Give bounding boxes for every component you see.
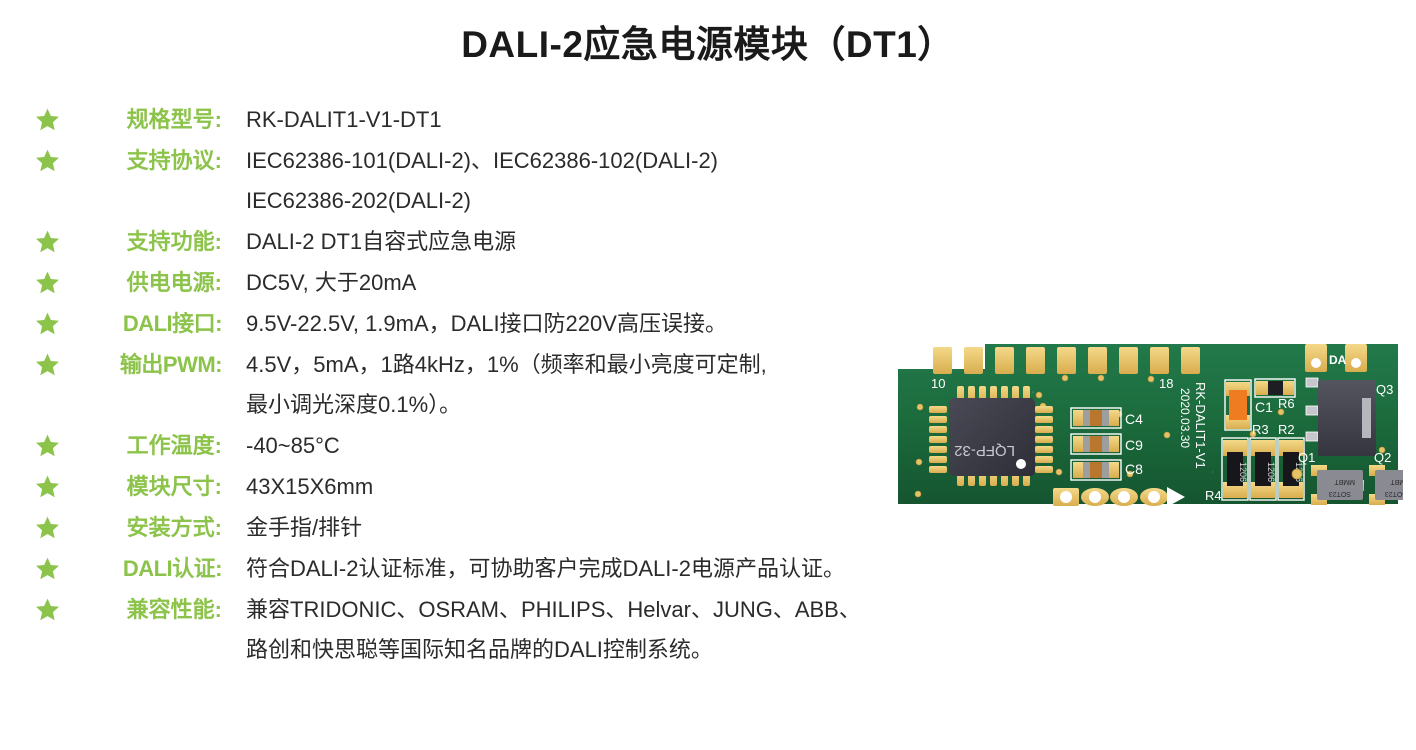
spec-value-line: RK-DALIT1-V1-DT1 (246, 100, 988, 140)
spec-label: DALI接口: (66, 304, 224, 344)
specification-list: 规格型号: RK-DALIT1-V1-DT1 支持协议: IEC62386-10… (28, 100, 988, 671)
pcb-designator-r3: R3 (1252, 422, 1269, 437)
spec-row-dali-certification: DALI认证: 符合DALI-2认证标准，可协助客户完成DALI-2电源产品认证… (28, 549, 988, 589)
pcb-designator-c9: C9 (1125, 437, 1143, 453)
pcb-designator-q2: Q2 (1374, 450, 1391, 465)
spec-value-line: 兼容TRIDONIC、OSRAM、PHILIPS、Helvar、JUNG、ABB… (246, 590, 988, 630)
spec-row-pwm-output: 输出PWM: 4.5V，5mA，1路4kHz，1%（频率和最小亮度可定制, 最小… (28, 345, 988, 425)
pcb-illustration: DA 10 18 RK-DALIT1-V1 2020.03.30 (893, 322, 1403, 522)
pcb-capacitors-c4-c9-c8: C4 C9 C8 (1071, 408, 1143, 480)
pcb-designator-c1: C1 (1255, 399, 1273, 415)
spec-value: 9.5V-22.5V, 1.9mA，DALI接口防220V高压误接。 (224, 304, 988, 344)
spec-label: 输出PWM: (66, 345, 224, 385)
bullet-cell (28, 426, 66, 458)
star-icon (35, 270, 60, 295)
spec-label: 供电电源: (66, 263, 224, 303)
spec-value-line: IEC62386-202(DALI-2) (246, 181, 988, 221)
spec-value: 43X15X6mm (224, 467, 988, 507)
spec-row-model: 规格型号: RK-DALIT1-V1-DT1 (28, 100, 988, 140)
pcb-designator-r2: R2 (1278, 422, 1295, 437)
spec-row-dali-interface: DALI接口: 9.5V-22.5V, 1.9mA，DALI接口防220V高压误… (28, 304, 988, 344)
spec-label: 兼容性能: (66, 590, 224, 630)
spec-value-line: 路创和快思聪等国际知名品牌的DALI控制系统。 (246, 630, 988, 670)
pcb-date-text: 2020.03.30 (1178, 388, 1192, 448)
bullet-cell (28, 263, 66, 295)
spec-label: 模块尺寸: (66, 467, 224, 507)
pcb-resistor-code: 1206 (1266, 462, 1276, 482)
pcb-pin-number-18: 18 (1159, 376, 1173, 391)
pcb-revision-text: RK-DALIT1-V1 (1193, 382, 1208, 469)
spec-label: DALI认证: (66, 549, 224, 589)
pcb-designator-q3: Q3 (1376, 382, 1393, 397)
bullet-cell (28, 345, 66, 377)
spec-value: DC5V, 大于20mA (224, 263, 988, 303)
svg-text:MMBT: MMBT (1334, 478, 1355, 485)
star-icon (35, 107, 60, 132)
star-icon (35, 229, 60, 254)
spec-value-line: -40~85°C (246, 426, 988, 466)
spec-value-line: DC5V, 大于20mA (246, 263, 988, 303)
svg-text:MMBT: MMBT (1390, 478, 1403, 485)
pcb-designator-q1: Q1 (1298, 450, 1315, 465)
star-icon (35, 515, 60, 540)
spec-value: 符合DALI-2认证标准，可协助客户完成DALI-2电源产品认证。 (224, 549, 988, 589)
pcb-label-da: DA (1329, 353, 1347, 367)
spec-row-function: 支持功能: DALI-2 DT1自容式应急电源 (28, 222, 988, 262)
bullet-cell (28, 590, 66, 622)
star-icon (35, 433, 60, 458)
spec-value-line: IEC62386-101(DALI-2)、IEC62386-102(DALI-2… (246, 141, 988, 181)
spec-value: IEC62386-101(DALI-2)、IEC62386-102(DALI-2… (224, 141, 988, 221)
pcb-designator-r4: R4 (1205, 488, 1222, 503)
spec-value: 4.5V，5mA，1路4kHz，1%（频率和最小亮度可定制, 最小调光深度0.1… (224, 345, 988, 425)
pcb-transistor-code: SOT23 (1329, 490, 1351, 497)
spec-row-dimensions: 模块尺寸: 43X15X6mm (28, 467, 988, 507)
bullet-cell (28, 304, 66, 336)
star-icon (35, 556, 60, 581)
spec-value: 金手指/排针 (224, 508, 988, 548)
star-icon (35, 474, 60, 499)
spec-row-protocol: 支持协议: IEC62386-101(DALI-2)、IEC62386-102(… (28, 141, 988, 221)
spec-value-line: 43X15X6mm (246, 467, 988, 507)
pcb-transistor-code: SOT23 (1385, 490, 1403, 497)
bullet-cell (28, 141, 66, 173)
bullet-cell (28, 222, 66, 254)
spec-value: RK-DALIT1-V1-DT1 (224, 100, 988, 140)
spec-row-power-supply: 供电电源: DC5V, 大于20mA (28, 263, 988, 303)
star-icon (35, 311, 60, 336)
bullet-cell (28, 100, 66, 132)
pcb-designator-c4: C4 (1125, 411, 1143, 427)
pcb-chip-label: LQFP-32 (954, 442, 1015, 459)
gold-finger-contacts (933, 347, 1200, 374)
spec-value-line: 4.5V，5mA，1路4kHz，1%（频率和最小亮度可定制, (246, 345, 988, 385)
star-icon (35, 352, 60, 377)
spec-label: 规格型号: (66, 100, 224, 140)
star-icon (35, 148, 60, 173)
pcb-resistor-code: 1206 (1238, 462, 1248, 482)
pcb-designator-c8: C8 (1125, 461, 1143, 477)
star-icon (35, 597, 60, 622)
spec-value-line: 金手指/排针 (246, 508, 988, 548)
product-image-pcb: DA 10 18 RK-DALIT1-V1 2020.03.30 (893, 322, 1403, 522)
spec-row-compatibility: 兼容性能: 兼容TRIDONIC、OSRAM、PHILIPS、Helvar、JU… (28, 590, 988, 670)
bullet-cell (28, 467, 66, 499)
pcb-designator-r6: R6 (1278, 396, 1295, 411)
product-spec-page: DALI-2应急电源模块（DT1） 规格型号: RK-DALIT1-V1-DT1… (0, 0, 1416, 750)
spec-label: 支持协议: (66, 141, 224, 181)
bullet-cell (28, 508, 66, 540)
spec-value-line: 符合DALI-2认证标准，可协助客户完成DALI-2电源产品认证。 (246, 549, 988, 589)
spec-value-line: DALI-2 DT1自容式应急电源 (246, 222, 988, 262)
spec-value: -40~85°C (224, 426, 988, 466)
spec-row-mounting: 安装方式: 金手指/排针 (28, 508, 988, 548)
spec-row-operating-temperature: 工作温度: -40~85°C (28, 426, 988, 466)
spec-value-line: 9.5V-22.5V, 1.9mA，DALI接口防220V高压误接。 (246, 304, 988, 344)
pcb-pin-number-10: 10 (931, 376, 945, 391)
bullet-cell (28, 549, 66, 581)
spec-label: 工作温度: (66, 426, 224, 466)
spec-value: DALI-2 DT1自容式应急电源 (224, 222, 988, 262)
spec-value-line: 最小调光深度0.1%）。 (246, 385, 988, 425)
spec-value: 兼容TRIDONIC、OSRAM、PHILIPS、Helvar、JUNG、ABB… (224, 590, 988, 670)
page-title: DALI-2应急电源模块（DT1） (0, 14, 1416, 68)
spec-label: 支持功能: (66, 222, 224, 262)
spec-label: 安装方式: (66, 508, 224, 548)
